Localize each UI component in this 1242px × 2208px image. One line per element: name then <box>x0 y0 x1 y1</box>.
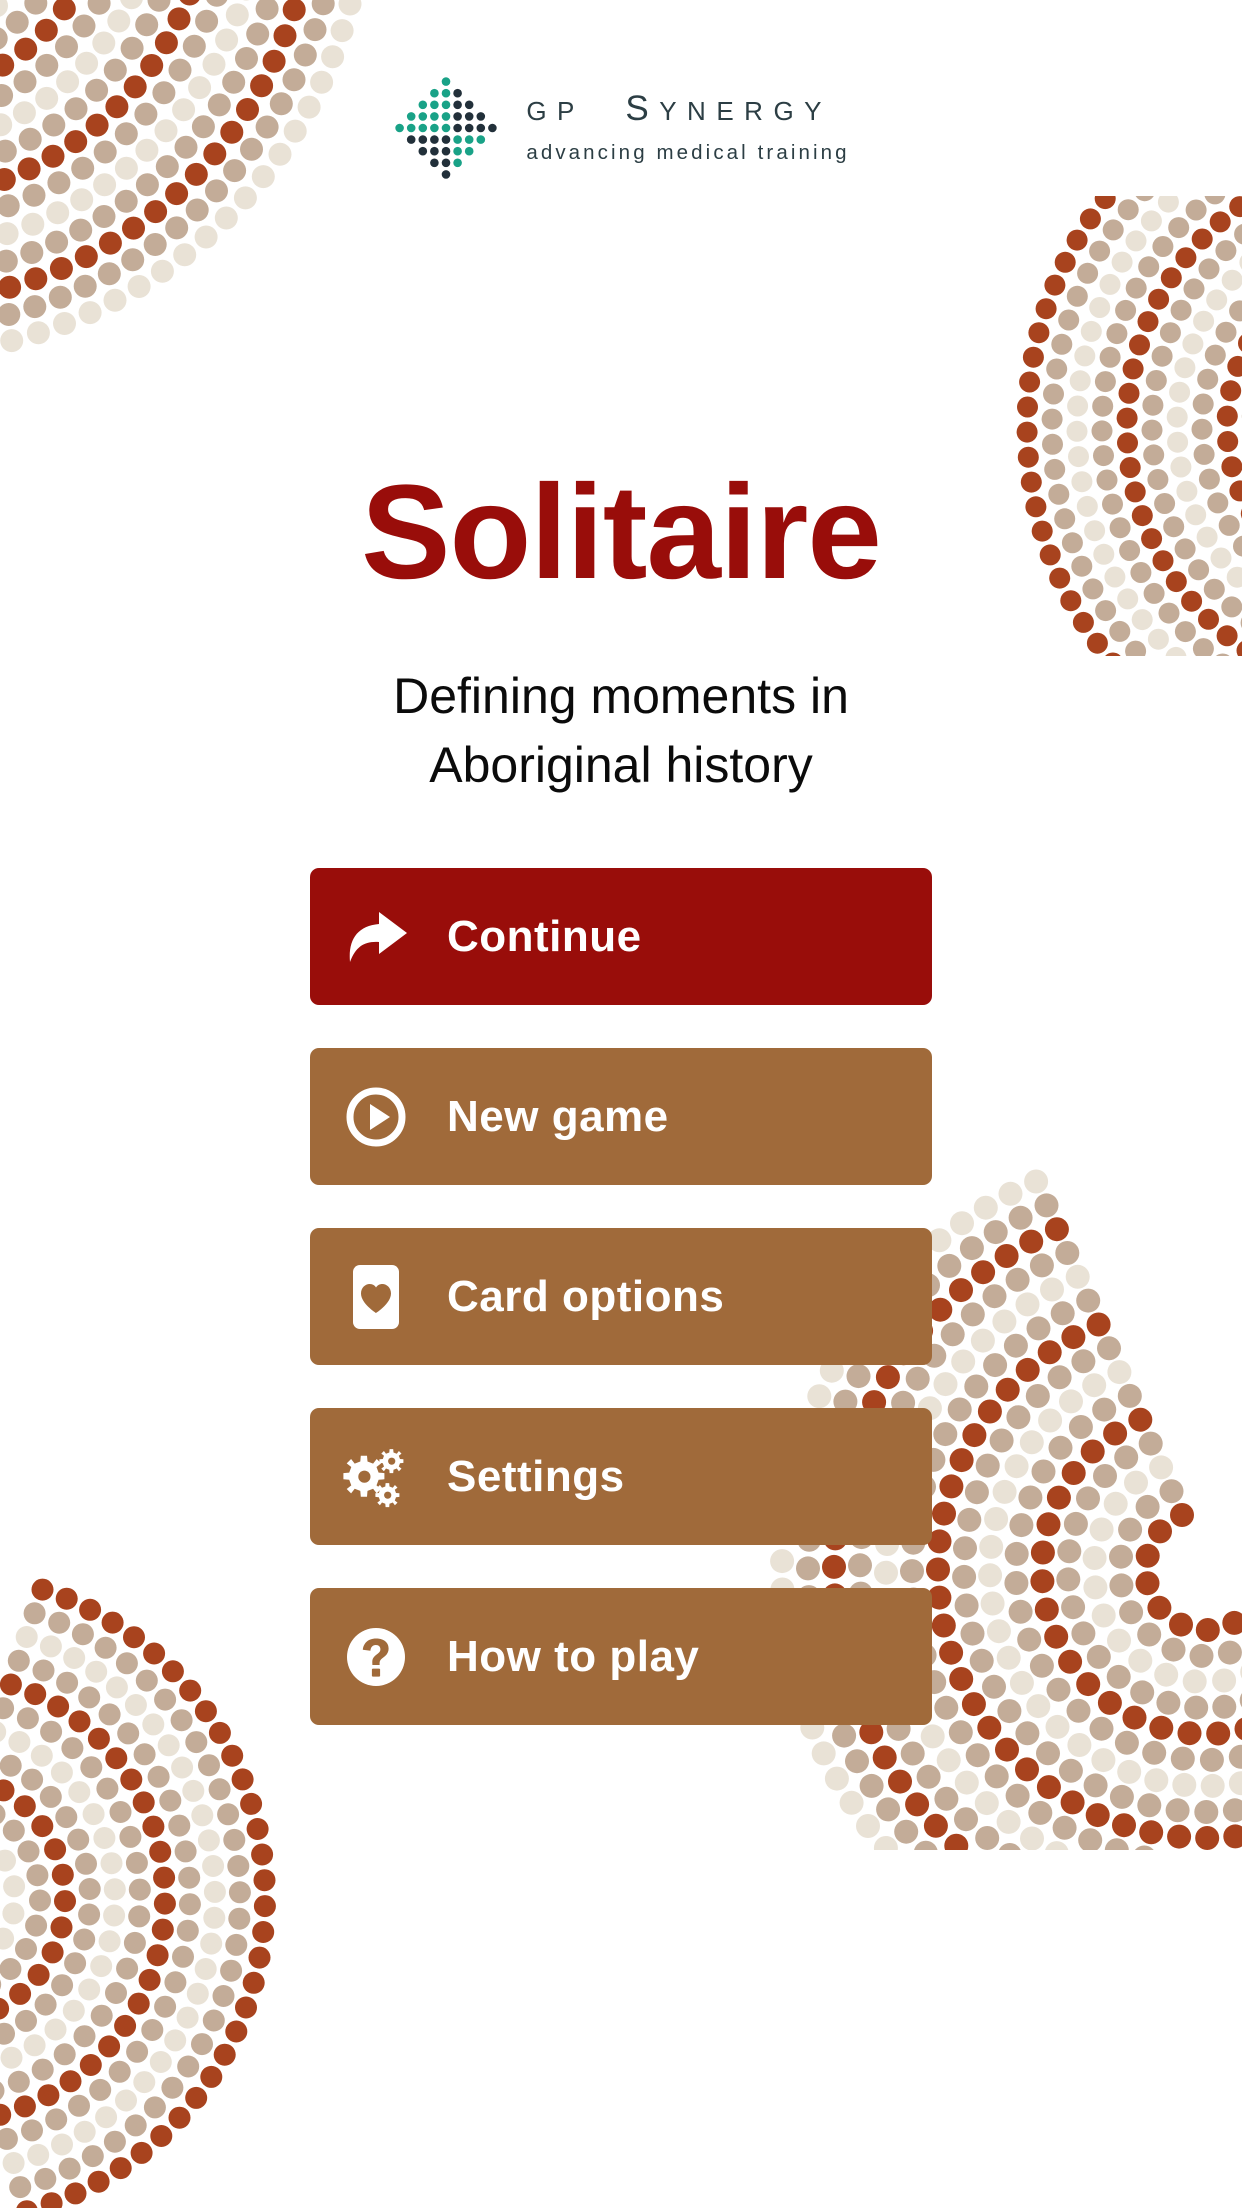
aboriginal-dot-pattern-bottom-left <box>0 1568 290 2208</box>
new-game-button-label: New game <box>447 1092 669 1142</box>
continue-button[interactable]: Continue <box>310 868 932 1005</box>
forward-arrow-icon <box>343 904 409 970</box>
page-subtitle: Defining moments in Aboriginal history <box>0 662 1242 800</box>
brand-tagline: advancing medical training <box>526 141 849 165</box>
app-screen: GP SYNERGY advancing medical training So… <box>0 0 1242 2208</box>
brand-name: GP SYNERGY <box>526 91 832 128</box>
page-title: Solitaire <box>0 466 1242 600</box>
settings-button-label: Settings <box>447 1452 625 1502</box>
play-circle-icon <box>343 1084 409 1150</box>
brand-name-spacer <box>585 89 625 128</box>
question-circle-icon <box>343 1624 409 1690</box>
gears-icon <box>343 1444 409 1510</box>
brand-logo: GP SYNERGY advancing medical training <box>0 72 1242 184</box>
card-options-button-label: Card options <box>447 1272 724 1322</box>
card-options-button[interactable]: Card options <box>310 1228 932 1365</box>
playing-card-heart-icon <box>343 1264 409 1330</box>
how-to-play-button-label: How to play <box>447 1632 699 1682</box>
gp-synergy-diamond-logo-icon <box>392 72 500 184</box>
page-subtitle-line-1: Defining moments in <box>0 662 1242 731</box>
main-menu: Continue New game Card options <box>310 868 932 1725</box>
how-to-play-button[interactable]: How to play <box>310 1588 932 1725</box>
new-game-button[interactable]: New game <box>310 1048 932 1185</box>
continue-button-label: Continue <box>447 912 642 962</box>
page-subtitle-line-2: Aboriginal history <box>0 731 1242 800</box>
brand-name-synergy: SYNERGY <box>625 89 832 128</box>
brand-name-gp: GP <box>526 96 585 126</box>
settings-button[interactable]: Settings <box>310 1408 932 1545</box>
brand-wordmark: GP SYNERGY advancing medical training <box>526 91 849 166</box>
